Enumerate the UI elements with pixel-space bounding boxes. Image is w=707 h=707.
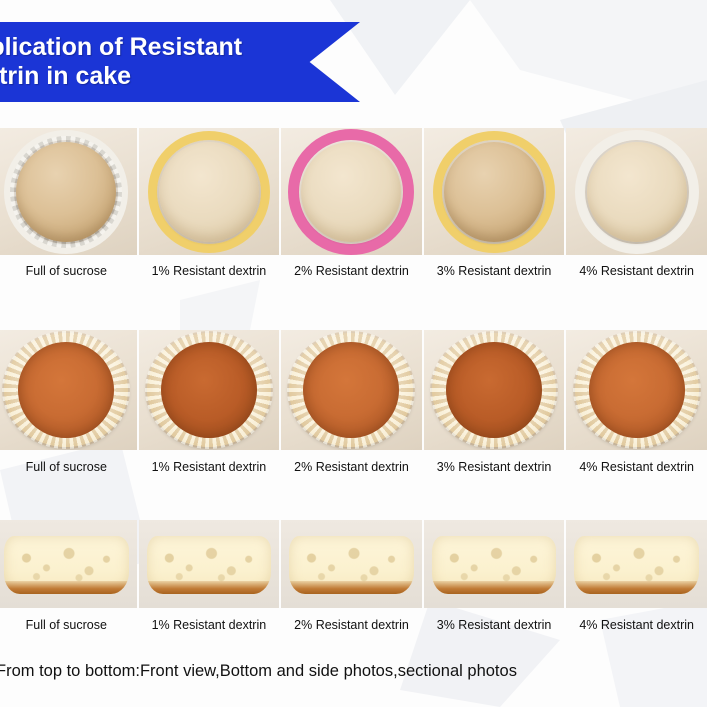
caption-row-front-view: Full of sucrose 1% Resistant dextrin 2% … [0, 255, 707, 278]
cake-photo-bottom-1 [139, 330, 280, 450]
cake-photo-section-4 [566, 520, 707, 608]
slide-canvas: Application of Resistant dextrin in cake… [0, 0, 707, 707]
cake-photo-section-0 [0, 520, 137, 608]
caption-bottom-0: Full of sucrose [0, 450, 137, 474]
title-banner: Application of Resistant dextrin in cake [0, 22, 360, 102]
footer-note: From top to bottom:Front view,Bottom and… [0, 662, 707, 681]
page-title: Application of Resistant dextrin in cake [0, 33, 302, 92]
caption-bottom-4: 4% Resistant dextrin [566, 450, 707, 474]
photo-row-sectional: Full of sucrose 1% Resistant dextrin 2% … [0, 520, 707, 632]
caption-section-4: 4% Resistant dextrin [566, 608, 707, 632]
cake-photo-front-1 [139, 128, 280, 255]
caption-section-0: Full of sucrose [0, 608, 137, 632]
caption-section-3: 3% Resistant dextrin [424, 608, 565, 632]
photo-strip-sectional [0, 520, 707, 608]
cake-photo-bottom-3 [424, 330, 565, 450]
photo-strip-front-view [0, 128, 707, 255]
caption-bottom-1: 1% Resistant dextrin [139, 450, 280, 474]
cake-photo-section-2 [281, 520, 422, 608]
photo-row-bottom-side: Full of sucrose 1% Resistant dextrin 2% … [0, 330, 707, 474]
caption-front-3: 3% Resistant dextrin [424, 255, 565, 278]
cake-photo-front-0 [0, 128, 137, 255]
caption-front-4: 4% Resistant dextrin [566, 255, 707, 278]
caption-bottom-2: 2% Resistant dextrin [281, 450, 422, 474]
photo-strip-bottom-side [0, 330, 707, 450]
caption-row-sectional: Full of sucrose 1% Resistant dextrin 2% … [0, 608, 707, 632]
caption-front-0: Full of sucrose [0, 255, 137, 278]
cake-photo-front-2 [281, 128, 422, 255]
caption-front-1: 1% Resistant dextrin [139, 255, 280, 278]
caption-bottom-3: 3% Resistant dextrin [424, 450, 565, 474]
cake-photo-bottom-0 [0, 330, 137, 450]
cake-photo-bottom-2 [281, 330, 422, 450]
cake-photo-section-3 [424, 520, 565, 608]
caption-row-bottom-side: Full of sucrose 1% Resistant dextrin 2% … [0, 450, 707, 474]
cake-photo-section-1 [139, 520, 280, 608]
caption-front-2: 2% Resistant dextrin [281, 255, 422, 278]
cake-photo-front-4 [566, 128, 707, 255]
caption-section-2: 2% Resistant dextrin [281, 608, 422, 632]
photo-row-front-view: Full of sucrose 1% Resistant dextrin 2% … [0, 128, 707, 278]
cake-photo-front-3 [424, 128, 565, 255]
caption-section-1: 1% Resistant dextrin [139, 608, 280, 632]
cake-photo-bottom-4 [566, 330, 707, 450]
